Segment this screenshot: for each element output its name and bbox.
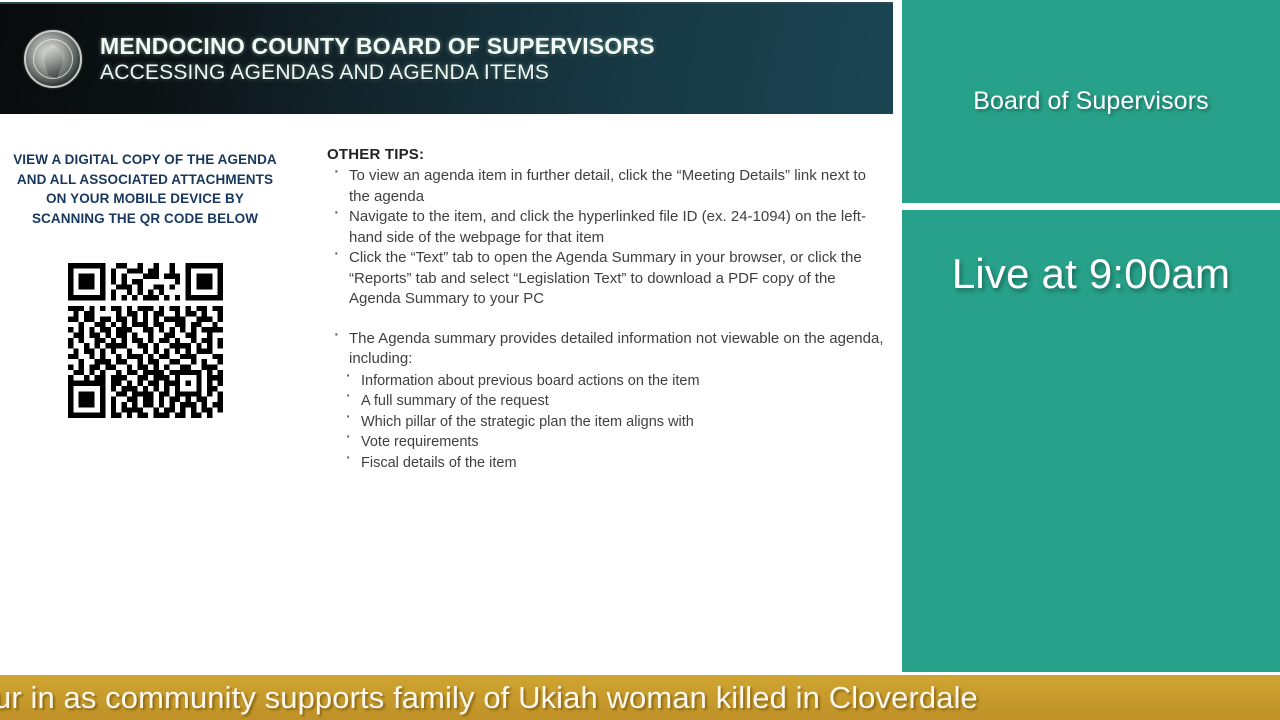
side-panel-bottom: Live at 9:00am [902,210,1280,672]
list-item: The Agenda summary provides detailed inf… [327,329,889,370]
qr-column: VIEW A DIGITAL COPY OF THE AGENDA AND AL… [0,150,290,418]
broadcast-screen: MENDOCINO COUNTY BOARD OF SUPERVISORS AC… [0,0,1280,720]
agenda-summary-list: The Agenda summary provides detailed inf… [327,329,889,370]
mendocino-county-seal-icon [24,30,82,88]
page-subtitle: ACCESSING AGENDAS AND AGENDA ITEMS [100,60,655,86]
list-spacer [327,310,889,329]
list-item: Vote requirements [327,432,889,453]
slide-header-text: MENDOCINO COUNTY BOARD OF SUPERVISORS AC… [100,33,655,86]
other-tips-section: OTHER TIPS: To view an agenda item in fu… [327,146,889,473]
list-item: Which pillar of the strategic plan the i… [327,412,889,433]
qr-instruction-text: VIEW A DIGITAL COPY OF THE AGENDA AND AL… [0,150,290,228]
meeting-name-label: Board of Supervisors [973,87,1208,116]
page-title: MENDOCINO COUNTY BOARD OF SUPERVISORS [100,33,655,60]
presentation-slide: MENDOCINO COUNTY BOARD OF SUPERVISORS AC… [0,0,902,672]
list-item: Information about previous board actions… [327,371,889,392]
side-panel-top: Board of Supervisors [902,0,1280,203]
list-item: Navigate to the item, and click the hype… [327,207,889,248]
qr-code-icon [68,263,223,418]
list-item: Fiscal details of the item [327,453,889,474]
qr-code-wrapper [0,263,290,418]
news-ticker-bar: ur in as community supports family of Uk… [0,675,1280,720]
list-item: Click the “Text” tab to open the Agenda … [327,248,889,310]
tips-bullet-list: To view an agenda item in further detail… [327,166,889,310]
slide-header-banner: MENDOCINO COUNTY BOARD OF SUPERVISORS AC… [0,2,893,114]
other-tips-heading: OTHER TIPS: [327,146,889,163]
agenda-summary-sub-list: Information about previous board actions… [327,371,889,474]
list-item: A full summary of the request [327,391,889,412]
side-panel-divider [902,203,1280,210]
list-item: To view an agenda item in further detail… [327,166,889,207]
live-time-label: Live at 9:00am [902,250,1280,298]
news-ticker-text: ur in as community supports family of Uk… [0,680,978,716]
